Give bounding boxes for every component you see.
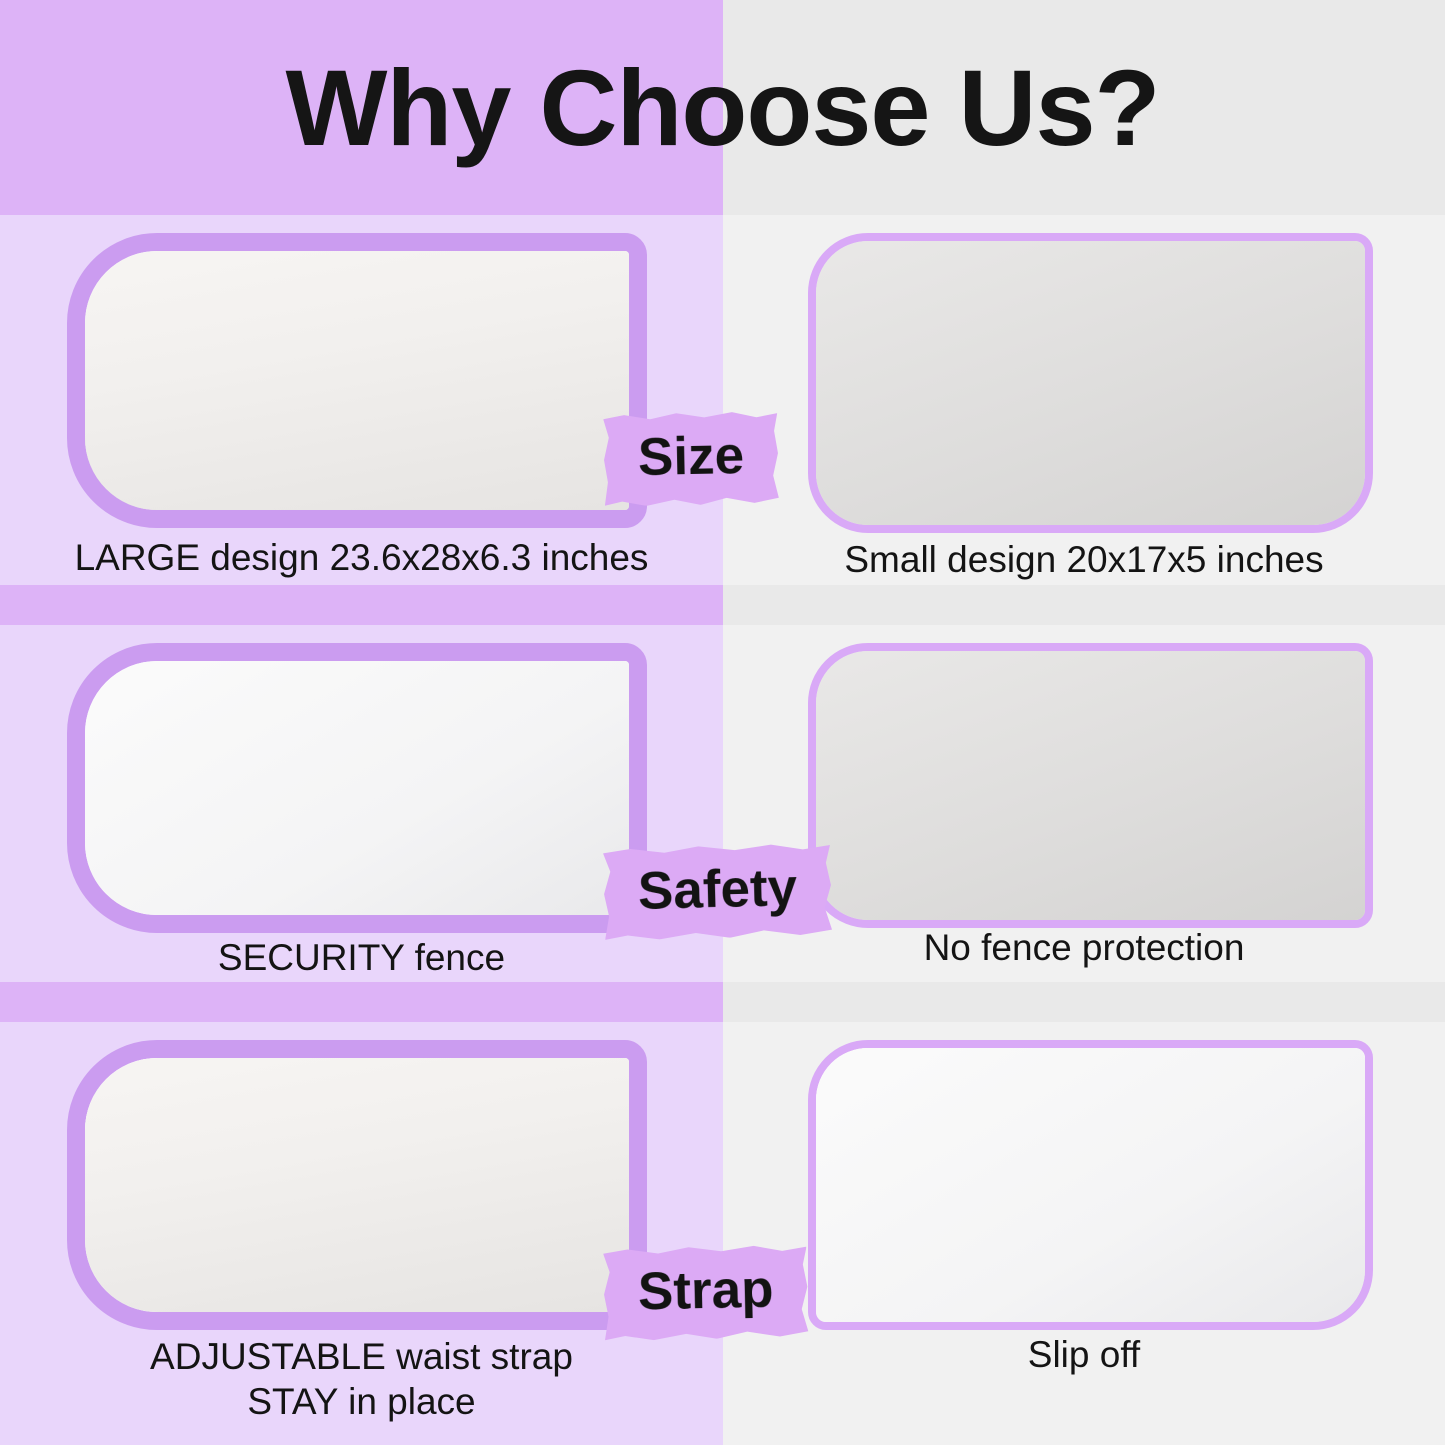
photo-plain-pillow-no-fence — [816, 651, 1365, 920]
badge-size: Size — [603, 410, 779, 506]
caption-no-fence-protection: No fence protection — [723, 925, 1445, 970]
caption-adjustable-waist-strap: ADJUSTABLE waist strap STAY in place — [0, 1334, 723, 1424]
row-strap-right-cell: Slip off — [723, 1022, 1445, 1445]
comparison-row-strap: ADJUSTABLE waist strap STAY in place — [0, 1022, 1445, 1445]
caption-slip-off: Slip off — [723, 1332, 1445, 1377]
row-divider-1 — [0, 585, 1445, 625]
divider-1-left — [0, 585, 723, 625]
badge-strap: Strap — [603, 1244, 808, 1341]
product-image-card-security-fence — [67, 643, 647, 933]
caption-large-design: LARGE design 23.6x28x6.3 inches — [0, 535, 723, 580]
infographic-page: Why Choose Us? — [0, 0, 1445, 1445]
photo-pillow-slip-off — [816, 1048, 1365, 1322]
caption-security-fence: SECURITY fence — [0, 935, 723, 980]
caption-line-1: ADJUSTABLE waist strap — [0, 1334, 723, 1379]
page-title: Why Choose Us? — [0, 0, 1445, 215]
comparison-row-size: LARGE design 23.6x28x6.3 inches — [0, 215, 1445, 585]
header-band: Why Choose Us? — [0, 0, 1445, 215]
divider-1-right — [723, 585, 1445, 625]
product-image-card-no-fence — [808, 643, 1373, 928]
divider-2-left — [0, 982, 723, 1022]
photo-pillow-security-fence — [85, 661, 629, 915]
caption-small-design: Small design 20x17x5 inches — [723, 537, 1445, 582]
photo-adjustable-waist-strap — [85, 1058, 629, 1312]
caption-line-2: STAY in place — [0, 1379, 723, 1424]
row-size-right-cell: Small design 20x17x5 inches — [723, 215, 1445, 585]
product-image-card-waist-strap — [67, 1040, 647, 1330]
divider-2-right — [723, 982, 1445, 1022]
photo-large-animal-pillow — [85, 251, 629, 510]
row-strap-left-cell: ADJUSTABLE waist strap STAY in place — [0, 1022, 723, 1445]
row-divider-2 — [0, 982, 1445, 1022]
product-image-card-small-pillow — [808, 233, 1373, 533]
product-image-card-slip-off — [808, 1040, 1373, 1330]
row-size-left-cell: LARGE design 23.6x28x6.3 inches — [0, 215, 723, 585]
photo-small-white-pillow — [816, 241, 1365, 525]
badge-safety: Safety — [603, 842, 832, 941]
product-image-card-large-pillow — [67, 233, 647, 528]
